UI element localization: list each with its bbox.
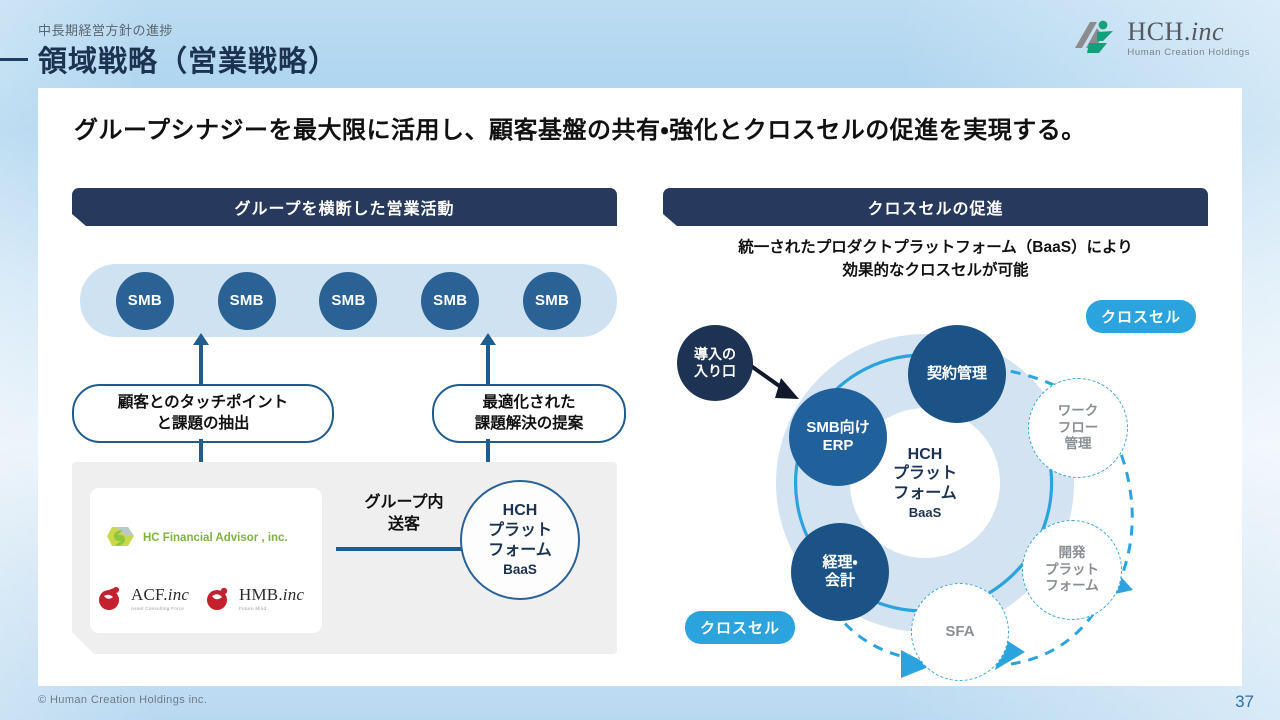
workflow-line3: 管理	[1065, 436, 1092, 452]
arrow-up-left-icon	[199, 344, 203, 386]
footer-copyright: © Human Creation Holdings inc.	[38, 694, 207, 706]
hcfa-logo-icon	[106, 524, 136, 552]
company-logo: HCH.inc Human Creation Holdings	[1073, 18, 1250, 58]
workflow-line2: フロー	[1058, 420, 1099, 436]
headline-text: グループシナジーを最大限に活用し、顧客基盤の共有・強化とクロスセルの促進を実現す…	[74, 110, 1086, 145]
hub-line2: プラット	[893, 464, 957, 484]
accounting-line1: 経理・	[822, 554, 857, 572]
dev-platform-line3: フォーム	[1045, 578, 1099, 594]
right-panel-ribbon: クロスセルの促進	[663, 188, 1208, 226]
group-company-logo-box: HC Financial Advisor , inc. ACF.inc Asse…	[90, 488, 322, 633]
dev-platform-line2: プラット	[1045, 562, 1099, 578]
hch-left-baas: BaaS	[503, 562, 537, 578]
right-subtitle-line1: 統一されたプロダクトプラットフォーム（BaaS）により	[663, 236, 1208, 259]
smb-node: SMB	[523, 272, 581, 330]
smb-customer-strip: SMB SMB SMB SMB SMB	[80, 264, 617, 337]
smb-node: SMB	[319, 272, 377, 330]
hub-line3: フォーム	[893, 484, 957, 504]
smb-node: SMB	[116, 272, 174, 330]
arrow-up-right-icon	[486, 344, 490, 386]
workflow-line1: ワーク	[1058, 403, 1099, 419]
right-panel-subtitle: 統一されたプロダクトプラットフォーム（BaaS）により 効果的なクロスセルが可能	[663, 236, 1208, 283]
callout-solution-line2: 課題解決の提案	[475, 414, 584, 435]
page-title: 領域戦略（営業戦略）	[38, 38, 338, 80]
hch-left-line3: フォーム	[488, 541, 552, 561]
page-title-row: 領域戦略（営業戦略）	[0, 38, 338, 80]
right-subtitle-line2: 効果的なクロスセルが可能	[663, 259, 1208, 282]
title-dash-decoration	[0, 58, 28, 61]
logo-row-acf: ACF.inc Asset Consulting Force	[96, 584, 189, 612]
acf-logo-text: ACF.inc Asset Consulting Force	[131, 585, 189, 611]
hch-left-line1: HCH	[503, 501, 538, 521]
hch-mark-icon	[1073, 18, 1119, 58]
hmb-logo-icon	[204, 584, 232, 612]
hmb-logo-text: HMB.inc Future Mind	[239, 585, 304, 611]
logo-wordmark: HCH.inc Human Creation Holdings	[1127, 19, 1250, 58]
badge-crosssell-bottom: クロスセル	[685, 611, 795, 644]
callout-touchpoint-line1: 顧客とのタッチポイント	[118, 393, 288, 414]
callout-solution-line1: 最適化された	[475, 393, 584, 414]
logo-row-hcfa: HC Financial Advisor , inc.	[106, 524, 288, 552]
dev-platform-line1: 開発	[1059, 545, 1086, 561]
logo-row-hmb: HMB.inc Future Mind	[204, 584, 304, 612]
callout-touchpoint-line2: と課題の抽出	[118, 414, 288, 435]
node-accounting: 経理・ 会計	[791, 523, 889, 621]
entry-line1: 導入の	[694, 346, 736, 363]
entry-line2: 入り口	[694, 363, 736, 380]
arrow-right-to-hch-icon	[336, 547, 476, 551]
group-referral-line2: 送客	[344, 514, 464, 536]
group-referral-line1: グループ内	[344, 492, 464, 514]
node-dev-platform: 開発 プラット フォーム	[1022, 520, 1122, 620]
page-number: 37	[1235, 692, 1254, 712]
sfa-line1: SFA	[945, 623, 974, 641]
node-entry-point: 導入の 入り口	[677, 325, 753, 401]
callout-solution: 最適化された 課題解決の提案	[432, 384, 626, 443]
callout-touchpoint: 顧客とのタッチポイント と課題の抽出	[72, 384, 334, 443]
accounting-line2: 会計	[825, 572, 855, 590]
hub-baas: BaaS	[909, 505, 942, 521]
smb-erp-line1: SMB向け	[806, 419, 869, 437]
node-smb-erp: SMB向け ERP	[789, 388, 887, 486]
smb-node: SMB	[218, 272, 276, 330]
node-workflow-management: ワーク フロー 管理	[1028, 378, 1128, 478]
smb-erp-line2: ERP	[823, 437, 854, 455]
hch-left-line2: プラット	[488, 521, 552, 541]
contract-line1: 契約管理	[927, 365, 987, 383]
slide-root: 中長期経営方針の進捗 領域戦略（営業戦略） HCH.inc Human Crea…	[0, 0, 1280, 720]
hub-line1: HCH	[908, 445, 943, 465]
node-contract-management: 契約管理	[908, 325, 1006, 423]
eyebrow-text: 中長期経営方針の進捗	[38, 20, 173, 39]
left-panel-ribbon: グループを横断した営業活動	[72, 188, 617, 226]
hcfa-logo-text: HC Financial Advisor , inc.	[143, 532, 288, 544]
acf-logo-icon	[96, 584, 124, 612]
smb-node: SMB	[421, 272, 479, 330]
badge-crosssell-top: クロスセル	[1086, 300, 1196, 333]
logo-main-text: HCH.inc	[1127, 19, 1250, 45]
hch-platform-circle-left: HCH プラット フォーム BaaS	[460, 480, 580, 600]
logo-subtitle: Human Creation Holdings	[1127, 48, 1250, 58]
content-card: グループシナジーを最大限に活用し、顧客基盤の共有・強化とクロスセルの促進を実現す…	[38, 88, 1242, 686]
group-referral-label: グループ内 送客	[344, 492, 464, 535]
node-sfa: SFA	[911, 583, 1009, 681]
crosssell-wheel-diagram: HCH プラット フォーム BaaS 導入の 入り口 SMB向け ERP 契約管…	[663, 298, 1223, 678]
